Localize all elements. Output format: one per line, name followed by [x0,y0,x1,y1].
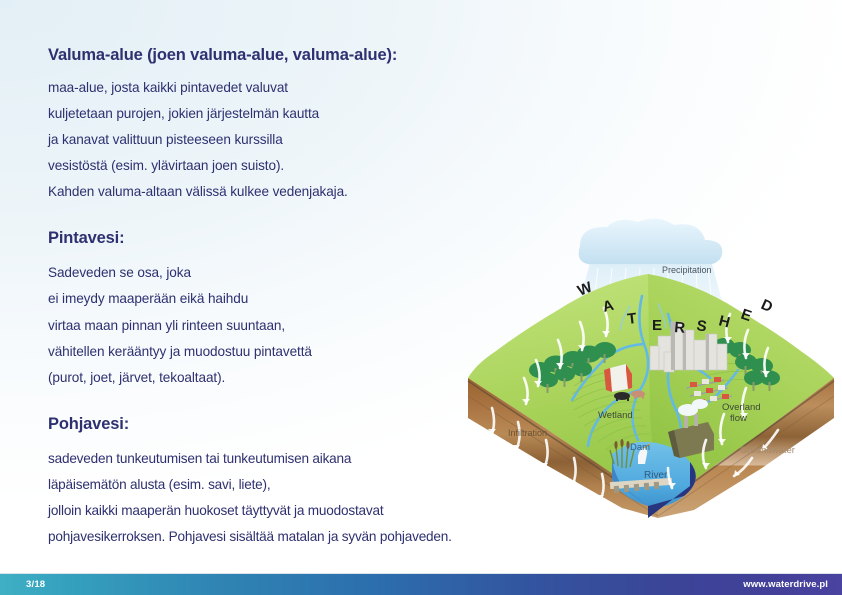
svg-text:R: R [674,319,686,337]
svg-text:E: E [652,317,662,334]
body-line: pohjavesikerroksen. Pohjavesi sisältää m… [48,524,568,550]
body-line: kuljetetaan purojen, jokien järjestelmän… [48,101,568,127]
svg-text:D: D [758,296,775,316]
label-infiltration: Infiltration [508,428,547,438]
label-dam: Dam [630,442,650,453]
page-number: 3/18 [26,579,45,590]
label-groundwater: Groundwater [740,445,795,456]
slide-root: Valuma-alue (joen valuma-alue, valuma-al… [0,0,842,595]
body-line: vesistöstä (esim. ylävirtaan joen suisto… [48,153,568,179]
watershed-illustration: Precipitation W A T E R S H E D Infiltra… [462,218,842,518]
body-line: maa-alue, josta kaikki pintavedet valuva… [48,75,568,101]
label-overland-flow-line2: flow [730,413,747,424]
footer-bar: 3/18 www.waterdrive.pl [0,574,842,595]
cloud-shape [579,219,723,265]
label-overland-flow: Overland [722,402,761,413]
label-wetland: Wetland [598,410,633,421]
heading-valuma-alue: Valuma-alue (joen valuma-alue, valuma-al… [48,44,568,68]
body-line: Kahden valuma-altaan välissä kulkee vede… [48,179,568,205]
label-river: River [644,470,668,481]
footer-website-url: www.waterdrive.pl [743,579,828,590]
content-block-valuma-alue: Valuma-alue (joen valuma-alue, valuma-al… [48,44,568,205]
body-line: ja kanavat valittuun pisteeseen kurssill… [48,127,568,153]
label-precipitation: Precipitation [662,265,712,275]
